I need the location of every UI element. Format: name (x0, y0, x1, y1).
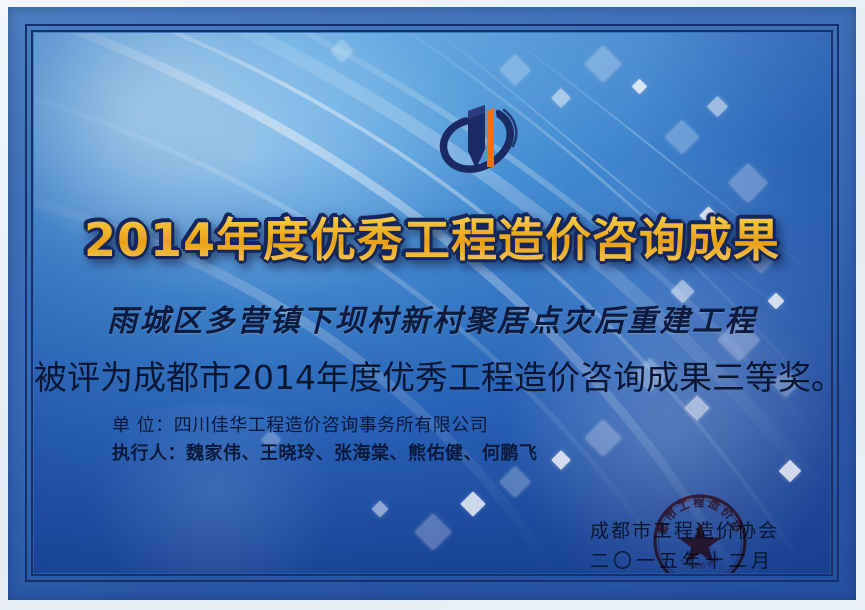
award-statement: 被评为成都市2014年度优秀工程造价咨询成果三等奖。 (34, 351, 830, 399)
detail-row-executors: 执行人：魏家伟、王晓玲、张海棠、熊佑健、何鹏飞 (112, 440, 672, 468)
detail-label-executors: 执行人： (112, 440, 186, 468)
detail-block: 单 位：四川佳华工程造价咨询事务所有限公司 执行人：魏家伟、王晓玲、张海棠、熊佑… (112, 412, 672, 468)
certificate-plate: 2014年度优秀工程造价咨询成果 雨城区多营镇下坝村新村聚居点灾后重建工程 被评… (0, 0, 865, 610)
detail-label-unit: 单 位： (112, 412, 174, 440)
project-name: 雨城区多营镇下坝村新村聚居点灾后重建工程 (34, 296, 830, 340)
detail-value-unit: 四川佳华工程造价咨询事务所有限公司 (174, 415, 489, 436)
detail-row-unit: 单 位：四川佳华工程造价咨询事务所有限公司 (112, 412, 672, 440)
svg-text:工程造价咨询: 工程造价咨询 (678, 554, 722, 571)
detail-value-executors: 魏家伟、王晓玲、张海棠、熊佑健、何鹏飞 (186, 443, 538, 464)
page-title: 2014年度优秀工程造价咨询成果 (34, 204, 830, 270)
emblem-logo (438, 99, 520, 181)
official-seal: 成都市工程造价协会 工程造价咨询 (651, 492, 749, 573)
seal-bottom-text: 工程造价咨询 (678, 554, 722, 571)
artwork-panel: 2014年度优秀工程造价咨询成果 雨城区多营镇下坝村新村聚居点灾后重建工程 被评… (34, 33, 830, 573)
